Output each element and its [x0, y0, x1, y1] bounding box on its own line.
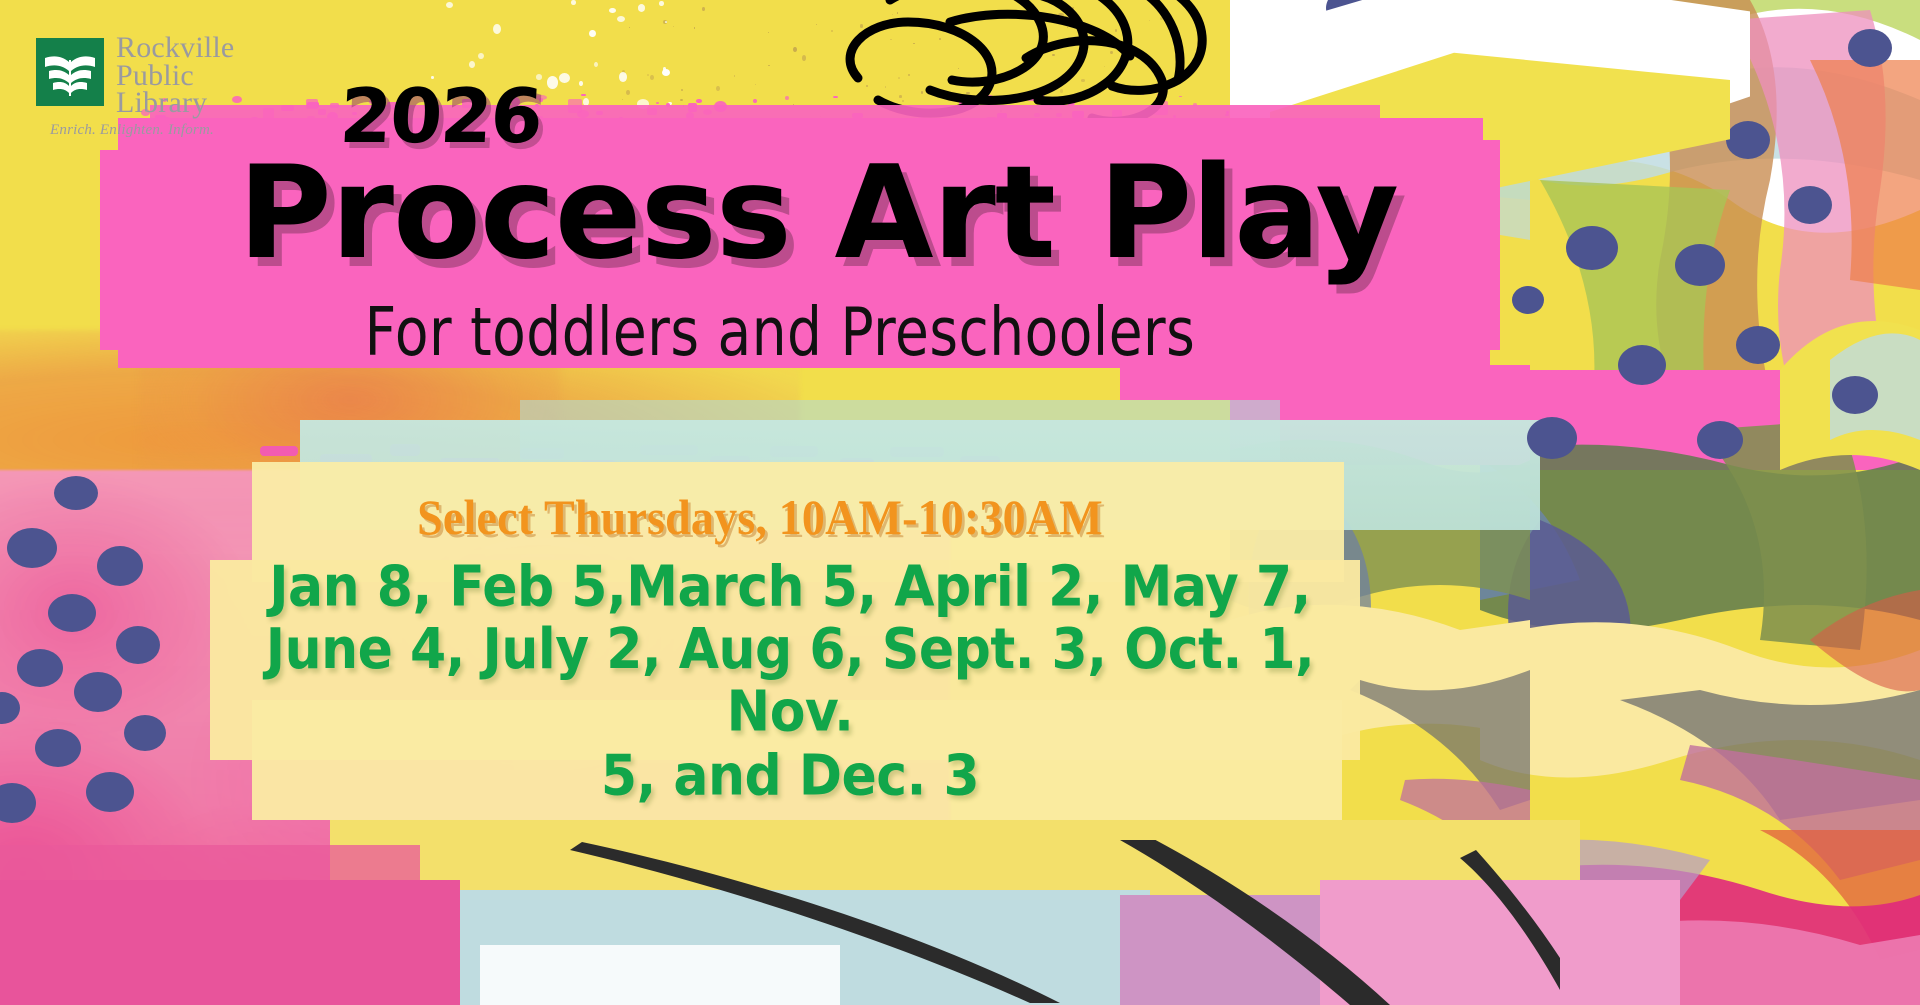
magenta-speckle-band [250, 440, 1010, 480]
dates-line-2: June 4, July 2, Aug 6, Sept. 3, Oct. 1, … [210, 619, 1370, 745]
logo-tagline: Enrich. Enlighten. Inform. [50, 122, 214, 139]
lilac-band-bottom [1120, 895, 1520, 1005]
poster-canvas: Rockville Public Library Enrich. Enlight… [0, 0, 1920, 1005]
mint-band-upper [520, 400, 1280, 460]
dates-line-1: Jan 8, Feb 5,March 5, April 2, May 7, [210, 556, 1370, 619]
schedule-time: Select Thursdays, 10AM-10:30AM [61, 488, 1459, 546]
logo-line-1: Rockville [116, 34, 234, 62]
page-title: Process Art Play [238, 150, 1398, 278]
pink-band-bottom-right [1320, 880, 1680, 1005]
abstract-collage-right [1480, 0, 1920, 1005]
white-band-bottom [480, 945, 840, 1005]
logo-line-2: Public [116, 62, 234, 90]
schedule-dates: Jan 8, Feb 5,March 5, April 2, May 7, Ju… [210, 556, 1370, 808]
magenta-band-bottom-left [0, 880, 460, 1005]
logo-line-3: Library [116, 89, 234, 117]
magenta-band-upper [0, 845, 420, 890]
logo-wordmark: Rockville Public Library [116, 34, 234, 117]
subtitle: For toddlers and Preschoolers [0, 293, 1560, 371]
open-book-icon [36, 38, 104, 106]
black-brush-strokes [560, 840, 1560, 1005]
light-blue-band [450, 890, 1150, 1005]
library-logo[interactable]: Rockville Public Library Enrich. Enlight… [36, 38, 256, 143]
bright-yellow-band [330, 820, 1580, 900]
dates-line-3: 5, and Dec. 3 [210, 744, 1370, 807]
